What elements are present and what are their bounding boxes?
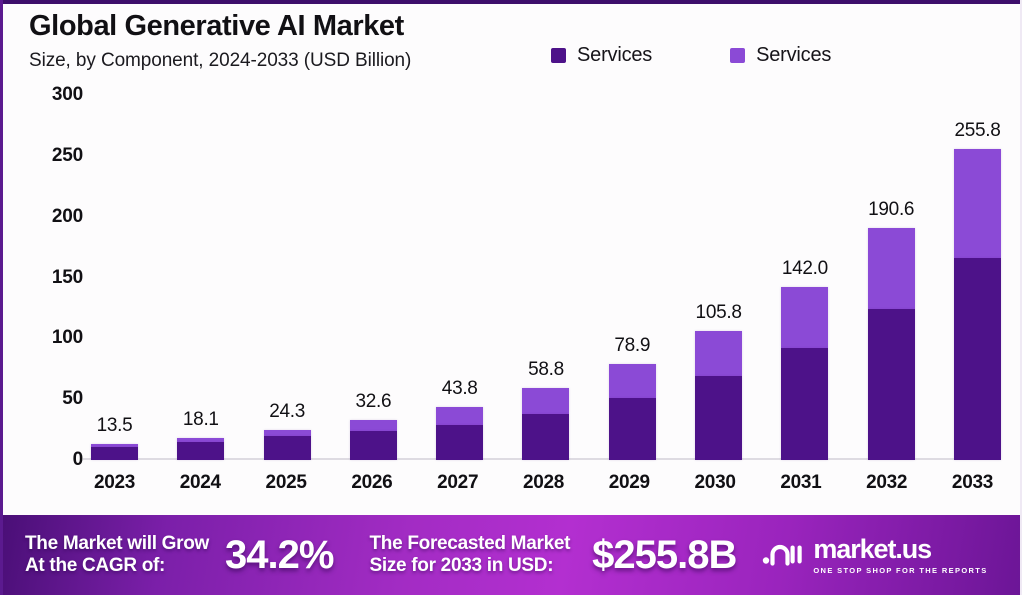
forecast-caption-line2: Size for 2033 in USD: [369,555,553,576]
bar-group[interactable]: 190.6 [868,95,915,460]
bar-value-label: 190.6 [868,199,914,221]
cagr-caption-line2: At the CAGR of: [25,555,165,576]
legend-item[interactable]: Services [730,44,831,67]
logo-tagline: ONE STOP SHOP FOR THE REPORTS [813,566,987,575]
y-axis-tick-label: 150 [52,267,83,289]
forecast-value: $255.8B [592,533,736,578]
bar-segment-services-dark[interactable] [436,425,483,460]
x-axis-tick-label: 2028 [520,472,567,494]
bar-segment-services-light[interactable] [436,407,483,425]
legend-label: Services [577,44,652,67]
bar-group[interactable]: 43.8 [436,95,483,460]
x-axis-tick-label: 2033 [949,472,996,494]
x-axis: 2023202420252026202720282029203020312032… [91,472,996,494]
bar-segment-services-light[interactable] [695,331,742,376]
legend-swatch-icon [551,48,566,63]
bar-series-container: 13.518.124.332.643.858.878.9105.8142.019… [91,95,1001,460]
logo-wordmark: market.us [813,536,931,563]
chart-legend: ServicesServices [551,44,831,67]
page-title: Global Generative AI Market [29,10,549,42]
x-axis-tick-label: 2023 [91,472,138,494]
bar-segment-services-light[interactable] [350,420,397,431]
x-axis-tick-label: 2032 [863,472,910,494]
bar-segment-services-light[interactable] [522,388,569,413]
bar-segment-services-dark[interactable] [264,436,311,460]
y-axis-tick-label: 0 [73,449,83,471]
generative-ai-market-infographic: Global Generative AI Market Size, by Com… [0,0,1022,595]
bar-value-label: 32.6 [356,391,392,413]
legend-swatch-icon [730,48,745,63]
footer-banner: The Market will Grow At the CAGR of: 34.… [3,515,1022,595]
bar-group[interactable]: 32.6 [350,95,397,460]
y-axis-tick-label: 50 [62,388,83,410]
y-axis-tick-label: 200 [52,206,83,228]
bar-group[interactable]: 255.8 [954,95,1001,460]
y-axis-tick-label: 100 [52,327,83,349]
market-us-logo[interactable]: market.us ONE STOP SHOP FOR THE REPORTS [762,536,987,575]
bar-value-label: 142.0 [782,258,828,280]
market-us-mark-icon [762,538,804,573]
x-axis-tick-label: 2026 [348,472,395,494]
bar-value-label: 24.3 [269,401,305,423]
bar-group[interactable]: 78.9 [609,95,656,460]
bar-segment-services-light[interactable] [954,149,1001,258]
bar-value-label: 18.1 [183,409,219,431]
x-axis-tick-label: 2029 [606,472,653,494]
bar-segment-services-light[interactable] [609,364,656,398]
bar-value-label: 58.8 [528,359,564,381]
cagr-caption-line1: The Market will Grow [25,533,209,554]
x-axis-tick-label: 2025 [263,472,310,494]
bar-value-label: 105.8 [696,302,742,324]
logo-text: market.us ONE STOP SHOP FOR THE REPORTS [813,536,987,575]
top-accent-rule [3,0,1020,4]
bar-segment-services-light[interactable] [868,228,915,309]
legend-item[interactable]: Services [551,44,652,67]
chart-header: Global Generative AI Market Size, by Com… [29,10,549,72]
bar-segment-services-dark[interactable] [522,414,569,460]
chart-plot-area: 050100150200250300 13.518.124.332.643.85… [3,95,1022,465]
x-axis-tick-label: 2031 [777,472,824,494]
bar-group[interactable]: 58.8 [522,95,569,460]
cagr-caption: The Market will Grow At the CAGR of: [25,533,209,578]
cagr-value: 34.2% [225,533,333,578]
y-axis: 050100150200250300 [21,95,83,465]
bar-segment-services-dark[interactable] [350,431,397,460]
bar-segment-services-dark[interactable] [609,398,656,460]
page-subtitle: Size, by Component, 2024-2033 (USD Billi… [29,50,549,72]
bar-segment-services-dark[interactable] [695,376,742,460]
bar-segment-services-dark[interactable] [781,348,828,460]
x-axis-tick-label: 2024 [177,472,224,494]
x-axis-tick-label: 2027 [434,472,481,494]
bar-value-label: 13.5 [97,415,133,437]
bar-segment-services-light[interactable] [781,287,828,347]
bar-segment-services-dark[interactable] [91,447,138,460]
bar-segment-services-dark[interactable] [177,442,224,460]
forecast-block: The Forecasted Market Size for 2033 in U… [369,533,736,578]
bar-group[interactable]: 13.5 [91,95,138,460]
bar-value-label: 43.8 [442,378,478,400]
forecast-caption-line1: The Forecasted Market [369,533,570,554]
y-axis-tick-label: 250 [52,145,83,167]
legend-label: Services [756,44,831,67]
bar-group[interactable]: 142.0 [781,95,828,460]
bar-group[interactable]: 105.8 [695,95,742,460]
bar-segment-services-dark[interactable] [868,309,915,460]
x-axis-tick-label: 2030 [692,472,739,494]
forecast-caption: The Forecasted Market Size for 2033 in U… [369,533,570,578]
bar-value-label: 255.8 [954,120,1000,142]
bar-segment-services-dark[interactable] [954,258,1001,460]
cagr-block: The Market will Grow At the CAGR of: 34.… [25,533,333,578]
bar-group[interactable]: 18.1 [177,95,224,460]
y-axis-tick-label: 300 [52,84,83,106]
bar-value-label: 78.9 [614,335,650,357]
bar-group[interactable]: 24.3 [264,95,311,460]
